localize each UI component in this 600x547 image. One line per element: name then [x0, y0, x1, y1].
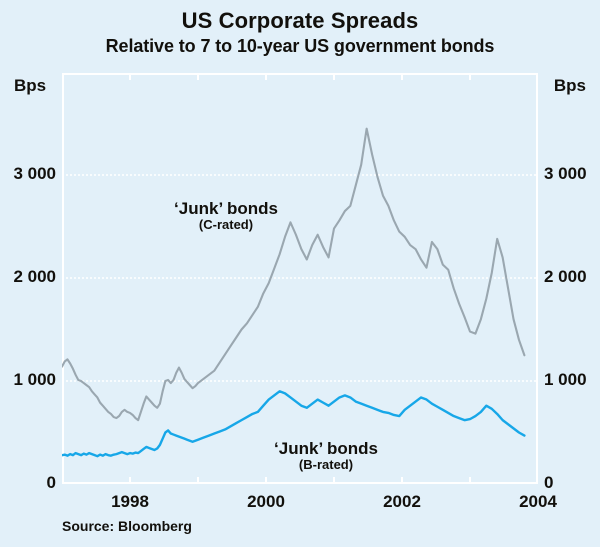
y-axis-tick-label-right: 1 000 — [544, 370, 600, 390]
x-axis-tick-label: 1998 — [90, 492, 170, 512]
y-axis-tick-label-left: 2 000 — [0, 267, 56, 287]
y-axis-tick-label-right: 0 — [544, 473, 600, 493]
annotation-line2: (B-rated) — [236, 458, 416, 472]
annotation-c-rated-label: ‘Junk’ bonds(C-rated) — [136, 200, 316, 232]
series-lines — [62, 129, 524, 457]
y-axis-tick-label-left: 1 000 — [0, 370, 56, 390]
y-axis-unit-left: Bps — [14, 76, 46, 96]
y-axis-tick-label-left: 0 — [0, 473, 56, 493]
chart-subtitle: Relative to 7 to 10-year US government b… — [0, 36, 600, 57]
plot-canvas — [62, 73, 538, 484]
x-axis-tick-label: 2000 — [226, 492, 306, 512]
y-axis-tick-label-right: 3 000 — [544, 164, 600, 184]
series-line-c-rated — [62, 129, 524, 420]
y-axis-unit-right: Bps — [554, 76, 586, 96]
annotation-line1: ‘Junk’ bonds — [236, 440, 416, 458]
chart-title: US Corporate Spreads — [0, 8, 600, 34]
chart-figure: US Corporate Spreads Relative to 7 to 10… — [0, 0, 600, 547]
y-axis-tick-label-left: 3 000 — [0, 164, 56, 184]
y-axis-tick-label-right: 2 000 — [544, 267, 600, 287]
x-axis-tick-label: 2002 — [362, 492, 442, 512]
annotation-line2: (C-rated) — [136, 218, 316, 232]
annotation-line1: ‘Junk’ bonds — [136, 200, 316, 218]
annotation-b-rated-label: ‘Junk’ bonds(B-rated) — [236, 440, 416, 472]
source-note: Source: Bloomberg — [62, 518, 192, 534]
x-axis-tick-label: 2004 — [498, 492, 578, 512]
